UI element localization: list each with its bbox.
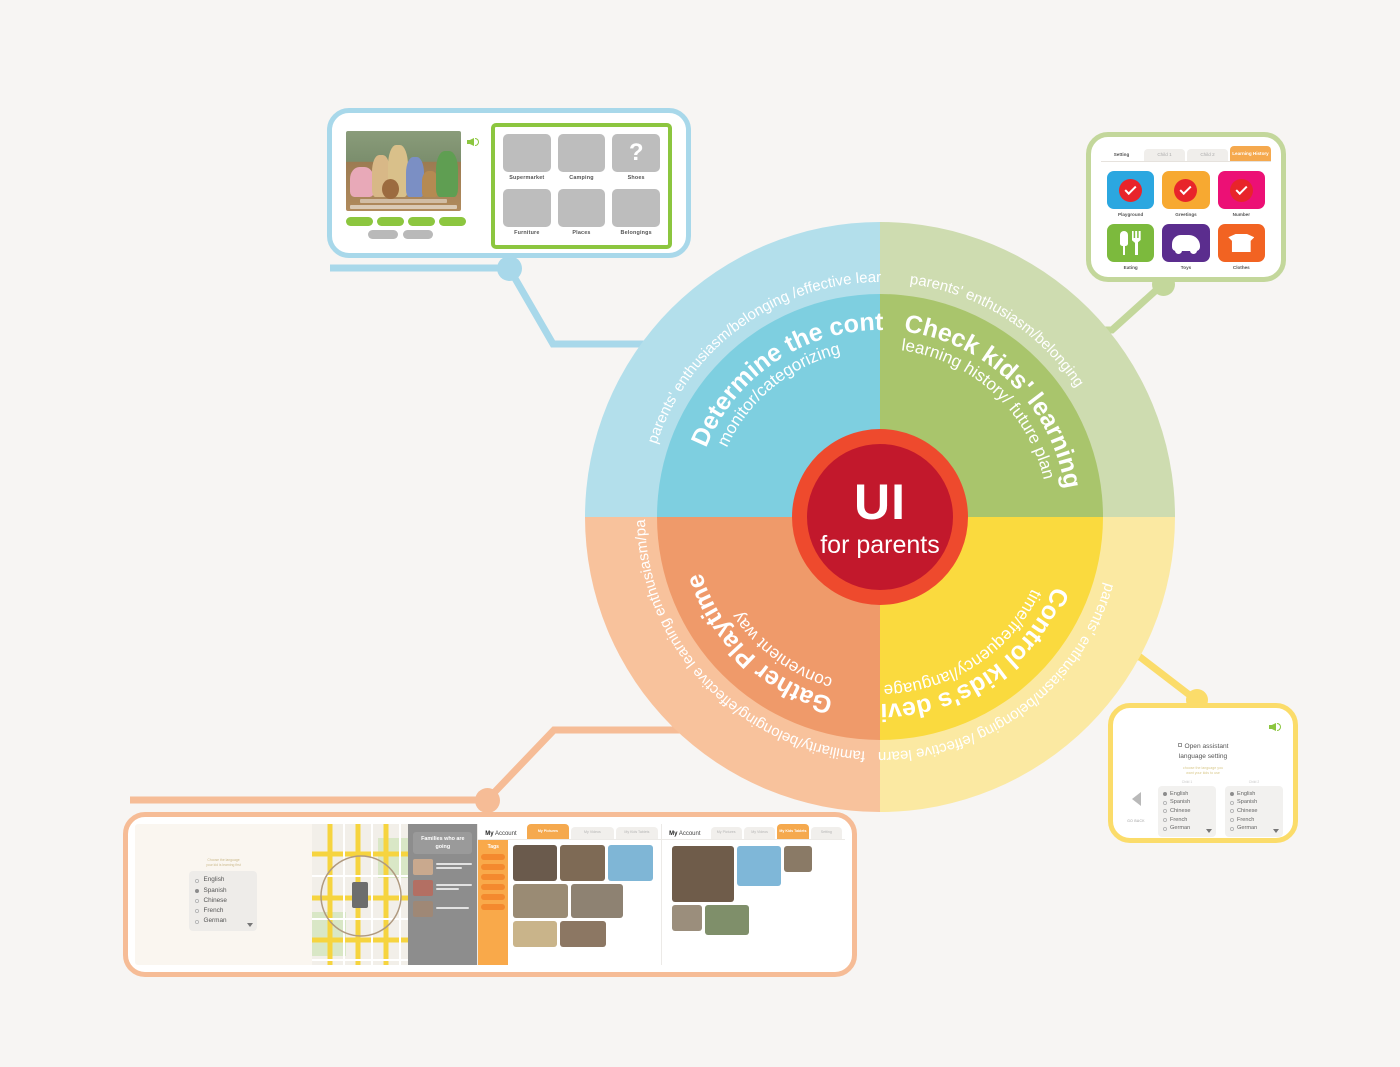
radio-option[interactable]: Chinese: [1163, 807, 1211, 816]
playground-tile-icon: [1107, 171, 1154, 209]
family-caption: [436, 863, 472, 871]
option-label: Spanish: [1237, 798, 1257, 807]
account-label-strong: My: [669, 831, 677, 837]
tab-setting[interactable]: Setting: [1101, 149, 1142, 161]
wheel-hub: UI for parents: [792, 429, 968, 605]
radio-icon: [1230, 827, 1234, 831]
number-tile-icon: [1218, 171, 1265, 209]
panel-title-line-2: language setting: [1179, 753, 1227, 760]
panel-title: Open assistant language setting: [1123, 742, 1283, 762]
account-label: My Account: [481, 831, 524, 839]
radio-icon: [195, 889, 199, 893]
photo-thumb[interactable]: [672, 846, 734, 902]
family-avatar: [413, 901, 433, 917]
topic-label: Greetings: [1175, 212, 1196, 217]
account-label: My Account: [665, 831, 708, 839]
radio-option[interactable]: German: [1230, 824, 1278, 833]
radio-icon: [1230, 809, 1234, 813]
panel-title-line-1: Open assistant: [1185, 743, 1229, 750]
radio-option[interactable]: Chinese: [1230, 807, 1278, 816]
family-avatar: [413, 859, 433, 875]
callout-card-gather-playtime: Choose the language your kid is learning…: [123, 812, 857, 977]
family-caption: [436, 884, 472, 892]
language-hint-line-2: your kid is learning first: [206, 863, 241, 867]
save-delete-row: [346, 230, 481, 239]
radio-option[interactable]: German: [1163, 824, 1211, 833]
category-grid: Supermarket Camping ? Shoes Furniture Pl…: [491, 123, 672, 249]
tag-item[interactable]: [481, 894, 505, 900]
panel-language-choice: Choose the language your kid is learning…: [135, 824, 312, 965]
greetings-tile-icon: [1162, 171, 1209, 209]
panel-my-kids-tablets: My Account My Pictures My Videos My Kids…: [662, 824, 845, 965]
tab-my-videos[interactable]: My Videos: [571, 827, 614, 839]
shirt-icon: [1218, 224, 1265, 262]
photo-thumb[interactable]: [513, 884, 568, 918]
family-avatar: [413, 880, 433, 896]
radio-option[interactable]: English: [195, 875, 251, 885]
topic-label: Toys: [1181, 265, 1191, 270]
radio-icon: [1163, 827, 1167, 831]
column-title: Child 1: [1158, 780, 1216, 784]
photo-thumb[interactable]: [560, 845, 605, 881]
hub-subtitle: for parents: [820, 533, 940, 558]
language-radio-list[interactable]: English Spanish Chinese French German: [189, 871, 257, 930]
radio-icon: [1163, 801, 1167, 805]
radio-option[interactable]: Chinese: [195, 896, 251, 906]
tab-my-kids-tablets[interactable]: My Kids Tablets: [777, 824, 808, 839]
radio-icon: [195, 920, 199, 924]
language-column-child-2: Child 2 English Spanish Chinese French G…: [1225, 780, 1283, 837]
tag-item[interactable]: [481, 884, 505, 890]
tags-header: Tags: [481, 844, 505, 850]
playback-button-row: [346, 217, 481, 226]
category-thumb: [612, 189, 660, 227]
playback-button[interactable]: [377, 217, 404, 226]
option-label: French: [1170, 816, 1187, 825]
chevron-down-icon[interactable]: [1206, 829, 1212, 833]
category-label: Camping: [569, 175, 593, 181]
category-tile[interactable]: Belongings: [612, 189, 660, 239]
radio-icon: [1230, 818, 1234, 822]
category-tile[interactable]: ? Shoes: [612, 134, 660, 184]
topic-label: Number: [1233, 212, 1250, 217]
topic-label: Eating: [1124, 265, 1138, 270]
wheel-hub-inner: UI for parents: [807, 444, 953, 590]
connector-node-blue: [497, 256, 522, 281]
radio-option[interactable]: English: [1163, 790, 1211, 799]
radio-icon: [1163, 818, 1167, 822]
radio-option[interactable]: French: [1163, 816, 1211, 825]
playback-button[interactable]: [408, 217, 435, 226]
map-graphic: [312, 824, 408, 965]
topic-label: Playground: [1118, 212, 1143, 217]
category-tile[interactable]: Places: [558, 189, 606, 239]
photo-thumb[interactable]: [560, 921, 606, 947]
check-badge-icon: [1230, 179, 1253, 202]
radio-icon: [1230, 801, 1234, 805]
volume-icon[interactable]: [1269, 720, 1283, 734]
photo-thumb[interactable]: [705, 905, 749, 935]
ui-for-parents-wheel: Determine the content monitor/categorizi…: [585, 222, 1175, 812]
option-label: English: [1170, 790, 1188, 799]
language-radio-list[interactable]: English Spanish Chinese French German: [1158, 786, 1216, 837]
chevron-down-icon[interactable]: [247, 923, 253, 927]
playback-button[interactable]: [439, 217, 466, 226]
tab-setting[interactable]: Setting: [811, 827, 842, 839]
tab-my-videos[interactable]: My Videos: [744, 827, 775, 839]
option-label: Chinese: [1237, 807, 1258, 816]
category-thumb: [558, 189, 606, 227]
tab-child-2[interactable]: Child 2: [1187, 149, 1228, 161]
save-button[interactable]: [368, 230, 398, 239]
learning-topic-grid: Playground Greetings Number Eating: [1101, 161, 1271, 270]
family-row[interactable]: [413, 901, 472, 917]
checkbox-icon[interactable]: [1178, 743, 1182, 747]
back-arrow-icon: [1132, 792, 1141, 806]
families-title-line-1: Families who are: [421, 836, 464, 842]
option-label: Chinese: [203, 896, 226, 906]
account-tab-bar: My Account My Pictures My Videos My Kids…: [662, 824, 845, 840]
callout-card-assistant-language: Open assistant language setting choose t…: [1108, 703, 1298, 843]
families-title: Families who are going: [413, 832, 472, 854]
option-label: Spanish: [203, 886, 226, 896]
panel-my-pictures: My Account My Pictures My Videos My Kids…: [478, 824, 661, 965]
category-label: Belongings: [620, 230, 651, 236]
photo-thumb[interactable]: [571, 884, 623, 918]
tags-sidebar: Tags: [478, 840, 508, 965]
radio-option[interactable]: Spanish: [1230, 798, 1278, 807]
radio-option[interactable]: Spanish: [195, 886, 251, 896]
language-hint: Choose the language your kid is learning…: [189, 858, 257, 868]
category-thumb: [503, 134, 551, 172]
photo-thumb[interactable]: [737, 846, 781, 886]
account-label-strong: My: [485, 831, 493, 837]
topic-tile[interactable]: Number: [1218, 171, 1265, 217]
tab-my-pictures[interactable]: My Pictures: [527, 824, 570, 839]
tag-item[interactable]: [481, 854, 505, 860]
language-hint-line-1: Choose the language: [207, 858, 239, 862]
photo-collage: [662, 840, 845, 941]
radio-option[interactable]: German: [195, 916, 251, 926]
tag-item[interactable]: [481, 874, 505, 880]
diagram-canvas: Determine the content monitor/categorizi…: [0, 0, 1400, 1067]
account-tab-bar: My Account My Pictures My Videos My Kids…: [478, 824, 661, 840]
hub-title: UI: [854, 477, 906, 527]
option-label: French: [1237, 816, 1254, 825]
option-label: English: [203, 875, 224, 885]
language-column-child-1: Child 1 English Spanish Chinese French G…: [1158, 780, 1216, 837]
photo-thumb[interactable]: [608, 845, 653, 881]
check-badge-icon: [1119, 179, 1142, 202]
volume-icon[interactable]: [467, 135, 481, 149]
callout-card-learning-history: Setting Child 1 Child 2 Learning History…: [1086, 132, 1286, 282]
panel-hint-line-2: want your kids to use: [1186, 771, 1220, 775]
topic-tile[interactable]: Toys: [1162, 224, 1209, 270]
option-label: English: [1237, 790, 1255, 799]
category-tile[interactable]: Furniture: [503, 189, 551, 239]
option-label: German: [203, 916, 226, 926]
option-label: Spanish: [1170, 798, 1190, 807]
playback-button[interactable]: [346, 217, 373, 226]
column-title: Child 2: [1225, 780, 1283, 784]
account-label-text: Account: [679, 831, 701, 837]
tab-my-kids-tablets[interactable]: My Kids Tablets: [616, 827, 659, 839]
go-back-button[interactable]: GO BACK: [1123, 780, 1149, 827]
radio-icon: [1163, 809, 1167, 813]
topic-tile[interactable]: Greetings: [1162, 171, 1209, 217]
video-thumbnail[interactable]: [346, 131, 461, 211]
option-label: French: [203, 906, 223, 916]
tab-child-1[interactable]: Child 1: [1144, 149, 1185, 161]
panel-map[interactable]: [312, 824, 408, 965]
radio-icon: [195, 899, 199, 903]
topic-label: Clothes: [1233, 265, 1250, 270]
photo-thumb[interactable]: [784, 846, 812, 872]
photo-thumb[interactable]: [513, 921, 557, 947]
family-caption: [436, 907, 472, 911]
language-radio-list[interactable]: English Spanish Chinese French German: [1225, 786, 1283, 837]
media-player-panel: [346, 123, 481, 239]
check-badge-icon: [1174, 179, 1197, 202]
chevron-down-icon[interactable]: [1273, 829, 1279, 833]
option-label: German: [1170, 824, 1190, 833]
panel-families-going: Families who are going: [408, 824, 477, 965]
radio-option[interactable]: English: [1230, 790, 1278, 799]
category-label: Supermarket: [509, 175, 544, 181]
tag-item[interactable]: [481, 904, 505, 910]
radio-icon: [1163, 792, 1167, 796]
photo-thumb[interactable]: [672, 905, 702, 931]
radio-option[interactable]: French: [195, 906, 251, 916]
radio-icon: [1230, 792, 1234, 796]
panel-hint-line-1: choose the language you: [1183, 766, 1223, 770]
families-title-line-2: going: [435, 844, 450, 850]
radio-icon: [195, 909, 199, 913]
family-row[interactable]: [413, 880, 472, 896]
category-label: Places: [572, 230, 590, 236]
radio-icon: [195, 879, 199, 883]
tab-my-pictures[interactable]: My Pictures: [711, 827, 742, 839]
tab-bar: Setting Child 1 Child 2 Learning History: [1101, 146, 1271, 161]
category-thumb-unknown: ?: [612, 134, 660, 172]
topic-tile[interactable]: Playground: [1107, 171, 1154, 217]
category-thumb: [558, 134, 606, 172]
option-label: Chinese: [1170, 807, 1191, 816]
utensils-icon: [1107, 224, 1154, 262]
family-row[interactable]: [413, 859, 472, 875]
car-icon: [1162, 224, 1209, 262]
photo-thumb[interactable]: [513, 845, 557, 881]
option-label: German: [1237, 824, 1257, 833]
category-label: Furniture: [514, 230, 539, 236]
account-label-text: Account: [495, 831, 517, 837]
topic-tile[interactable]: Clothes: [1218, 224, 1265, 270]
radio-option[interactable]: Spanish: [1163, 798, 1211, 807]
panel-hint: choose the language you want your kids t…: [1123, 766, 1283, 777]
tab-learning-history[interactable]: Learning History: [1230, 146, 1271, 161]
callout-card-determine-content: Supermarket Camping ? Shoes Furniture Pl…: [327, 108, 691, 258]
category-tile[interactable]: Supermarket: [503, 134, 551, 184]
go-back-label: GO BACK: [1127, 819, 1145, 823]
photo-grid: [508, 840, 661, 965]
tag-item[interactable]: [481, 864, 505, 870]
delete-button[interactable]: [403, 230, 433, 239]
radio-option[interactable]: French: [1230, 816, 1278, 825]
topic-tile[interactable]: Eating: [1107, 224, 1154, 270]
category-label: Shoes: [628, 175, 645, 181]
category-thumb: [503, 189, 551, 227]
category-tile[interactable]: Camping: [558, 134, 606, 184]
connector-node-orange: [475, 788, 500, 813]
